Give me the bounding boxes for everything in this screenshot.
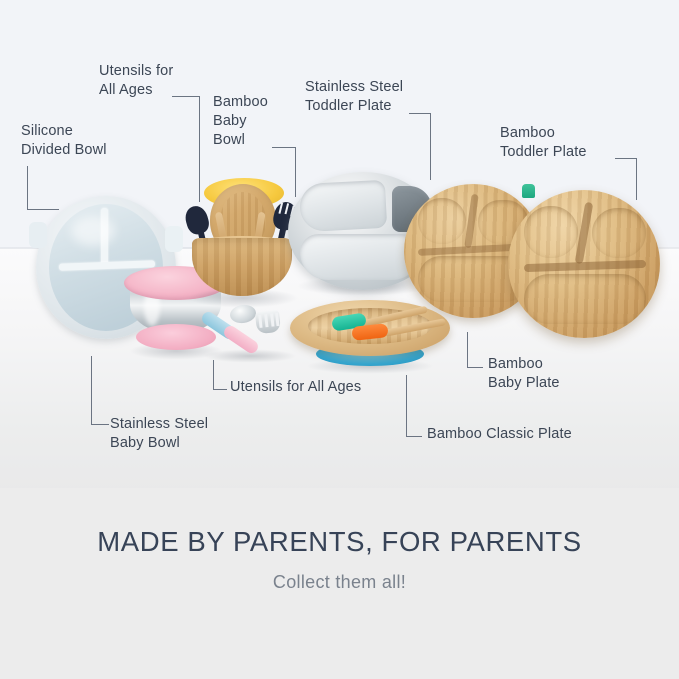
- footer-subline: Collect them all!: [0, 572, 679, 593]
- leader-line-bamboo-classic-plate: [406, 375, 430, 437]
- leader-segment-horizontal: [272, 147, 296, 148]
- leader-segment-vertical: [406, 375, 407, 437]
- leader-line-bamboo-baby-bowl: [272, 147, 308, 197]
- leader-line-bamboo-toddler-plate: [615, 158, 649, 200]
- bamboo-baby-bowl-body: [192, 238, 292, 296]
- steel-fork-head: [255, 310, 281, 334]
- steel-spoon-head: [229, 303, 257, 324]
- leader-line-silicone-divided-bowl: [27, 166, 67, 210]
- callout-label-stainless-steel-toddler-plate: Stainless Steel Toddler Plate: [305, 78, 403, 116]
- silicone-bowl-highlight: [71, 216, 115, 246]
- leader-line-utensils-all-ages-top: [172, 96, 214, 202]
- leader-segment-vertical: [636, 158, 637, 200]
- leader-line-bamboo-baby-plate: [467, 332, 491, 368]
- callout-label-bamboo-baby-bowl: Bamboo Baby Bowl: [213, 93, 268, 150]
- leader-segment-vertical: [91, 356, 92, 425]
- bamboo-toddler-b-disc: [508, 190, 660, 338]
- callout-label-bamboo-toddler-plate: Bamboo Toddler Plate: [500, 124, 587, 162]
- bamboo-toddler-a-well-1: [418, 198, 466, 244]
- leader-line-stainless-steel-baby-bowl: [91, 356, 115, 425]
- callout-label-stainless-steel-baby-bowl: Stainless Steel Baby Bowl: [110, 415, 208, 453]
- leader-line-stainless-steel-toddler-plate: [409, 113, 445, 180]
- bamboo-toddler-b-well-3: [524, 274, 646, 324]
- fork-tine: [275, 313, 279, 326]
- leader-segment-vertical: [430, 113, 431, 180]
- leader-segment-horizontal: [172, 96, 200, 97]
- fork-tine: [270, 313, 274, 326]
- callout-label-utensils-all-ages-bottom: Utensils for All Ages: [230, 378, 361, 397]
- silicone-bowl-tab-right: [165, 226, 183, 252]
- callout-label-bamboo-classic-plate: Bamboo Classic Plate: [427, 425, 572, 444]
- leader-segment-vertical: [27, 166, 28, 210]
- footer-headline: MADE BY PARENTS, FOR PARENTS: [0, 526, 679, 558]
- bamboo-toddler-b-well-1: [524, 206, 578, 258]
- leader-segment-vertical: [213, 360, 214, 390]
- leader-segment-horizontal: [409, 113, 431, 114]
- fork-tine: [258, 315, 262, 328]
- leader-segment-vertical: [295, 147, 296, 197]
- callout-label-utensils-all-ages-top: Utensils for All Ages: [99, 62, 173, 100]
- infographic-canvas: Silicone Divided Bowl Utensils for All A…: [0, 0, 679, 679]
- leader-segment-horizontal: [27, 209, 59, 210]
- product-utensils-for-all-ages: [200, 305, 300, 363]
- fork-tine: [264, 314, 268, 327]
- leader-line-utensils-all-ages-bottom: [213, 360, 235, 390]
- leader-segment-horizontal: [213, 389, 227, 390]
- callout-label-silicone-divided-bowl: Silicone Divided Bowl: [21, 122, 107, 160]
- leader-segment-horizontal: [406, 436, 422, 437]
- silicone-bowl-tab-left: [29, 222, 47, 248]
- callout-label-bamboo-baby-plate: Bamboo Baby Plate: [488, 355, 560, 393]
- leader-segment-horizontal: [467, 367, 483, 368]
- fork-tine: [278, 203, 283, 214]
- bamboo-toddler-green-suction-tab: [522, 184, 535, 198]
- ss-plate-compartment-large: [299, 180, 387, 232]
- leader-segment-vertical: [199, 96, 200, 202]
- leader-segment-horizontal: [615, 158, 637, 159]
- product-bamboo-toddler-plate-front: [508, 190, 660, 338]
- ss-plate-compartment-wide: [300, 234, 420, 280]
- bamboo-toddler-b-well-2: [592, 208, 646, 258]
- leader-segment-horizontal: [91, 424, 109, 425]
- leader-segment-vertical: [467, 332, 468, 368]
